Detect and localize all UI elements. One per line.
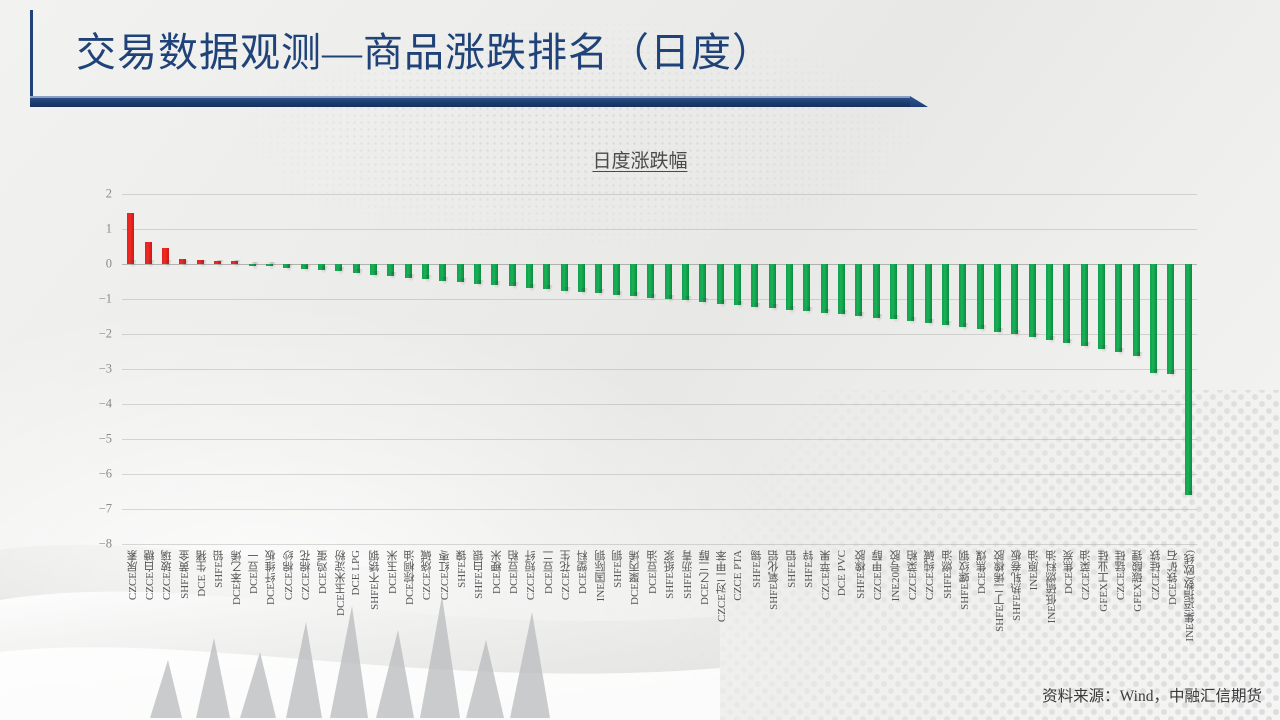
x-axis-tick-label: CZCE锰硅	[1113, 550, 1129, 600]
bar	[162, 248, 169, 264]
bar	[647, 264, 654, 298]
title-left-accent-rule	[30, 10, 33, 106]
bar	[405, 264, 412, 278]
x-axis-tick-label: DCE PVC	[836, 550, 848, 596]
gridline-2	[122, 194, 1197, 195]
x-axis-tick-label: DCE玉米淀粉	[333, 550, 349, 616]
bar	[890, 264, 897, 319]
y-axis-tick-label: −7	[72, 502, 112, 517]
bar	[925, 264, 932, 323]
x-axis-tick-label: SHFE白银	[471, 550, 487, 599]
bar	[509, 264, 516, 286]
x-axis-tick-label: SHFE不锈钢	[367, 550, 383, 610]
page-title: 交易数据观测—商品涨跌排名（日度）	[76, 26, 773, 80]
x-axis-tick-label: DCE焦炭	[1061, 550, 1077, 594]
bar	[439, 264, 446, 281]
gridline--8	[122, 544, 1197, 545]
bar	[1081, 264, 1088, 346]
x-axis-tick-label: DCE豆一	[246, 550, 262, 594]
y-axis-tick-label: −5	[72, 432, 112, 447]
x-axis-tick-label: CZCE纯碱	[922, 550, 938, 600]
x-axis-tick-label: SHFE镍	[454, 550, 470, 588]
y-axis-tick-label: 0	[72, 257, 112, 272]
x-axis-tick-label: SHFE热轧卷板	[1009, 550, 1025, 621]
x-axis-tick-label: DCE豆粕	[506, 550, 522, 594]
x-axis-tick-label: SHFE沥青	[680, 550, 696, 599]
bar	[561, 264, 568, 291]
x-axis-tick-label: SHFE黄金	[177, 550, 193, 599]
bar	[266, 264, 273, 266]
x-axis-tick-label: CZCE棉花	[298, 550, 314, 600]
bar	[491, 264, 498, 285]
x-axis-tick-label: CZCE尿素	[125, 550, 141, 600]
bar	[630, 264, 637, 296]
x-axis-tick-label: CZCE PTA	[732, 550, 744, 601]
bar	[977, 264, 984, 329]
y-axis-tick-label: −4	[72, 397, 112, 412]
bar	[682, 264, 689, 300]
x-axis-tick-label: SHFE铅	[211, 550, 227, 588]
x-axis-tick-label: CZCE短纤	[523, 550, 539, 600]
bar	[1115, 264, 1122, 352]
x-axis-tick-label: DCE豆油	[645, 550, 661, 594]
title-underline-highlight	[30, 96, 910, 98]
source-note: 资料来源：Wind，中融汇信期货	[1042, 684, 1262, 706]
bar	[474, 264, 481, 284]
x-axis-tick-label: INE集运指数(欧线)	[1182, 550, 1198, 642]
x-axis-tick-label: DCE纤维板	[263, 550, 279, 605]
y-axis-tick-label: −3	[72, 362, 112, 377]
bar	[769, 264, 776, 308]
x-axis-tick-label: INE20号胶	[888, 550, 904, 601]
bar	[1150, 264, 1157, 373]
bar	[283, 264, 290, 268]
x-axis-tick-label: SHFE橡胶	[853, 550, 869, 599]
x-axis-tick-label: DCE焦煤	[974, 550, 990, 594]
gridline-1	[122, 229, 1197, 230]
bar	[838, 264, 845, 314]
x-axis-tick-label: CZCE对二甲苯	[714, 550, 730, 622]
x-axis-tick-label: GFEX工业硅	[1096, 550, 1112, 612]
x-axis-tick-label: SHFE燃油	[940, 550, 956, 599]
bar	[734, 264, 741, 305]
bar	[994, 264, 1001, 332]
y-axis-tick-label: −1	[72, 292, 112, 307]
bar	[699, 264, 706, 302]
chart-container: 日度涨跌幅 210−1−2−3−4−5−6−7−8 CZCE尿素CZCE白糖CZ…	[0, 120, 1280, 680]
bar	[1167, 264, 1174, 374]
gridline--7	[122, 509, 1197, 510]
y-axis-tick-label: 2	[72, 187, 112, 202]
chart-plot-area: 210−1−2−3−4−5−6−7−8	[122, 194, 1197, 544]
x-axis-tick-label: DCE聚丙烯	[627, 550, 643, 605]
x-axis-tick-label: DCE棕榈油	[402, 550, 418, 605]
bar	[1046, 264, 1053, 340]
gridline--6	[122, 474, 1197, 475]
x-axis-tick-label: SHFE螺纹钢	[957, 550, 973, 610]
bar	[214, 261, 221, 264]
x-axis-tick-label: DCE苯乙烯	[229, 550, 245, 605]
x-axis-tick-label: CZCE烧碱	[419, 550, 435, 600]
bar	[959, 264, 966, 327]
bar	[751, 264, 758, 307]
bar	[1185, 264, 1192, 495]
x-axis-tick-label: SHFE锌	[801, 550, 817, 588]
slide-root: 交易数据观测—商品涨跌排名（日度） 日度涨跌幅 210−1−2−3−4−5−6−…	[0, 0, 1280, 720]
bar	[855, 264, 862, 316]
x-axis-tick-label: CZCE苹果	[818, 550, 834, 600]
bar	[1029, 264, 1036, 337]
x-axis-tick-label: SHFE丁二烯橡胶	[992, 550, 1008, 632]
x-axis-tick-label: CZCE玻璃	[159, 550, 175, 600]
bar	[543, 264, 550, 289]
x-axis-tick-label: DCE玉米	[385, 550, 401, 594]
x-axis-tick-label: DCE 生猪	[194, 550, 210, 597]
x-axis-tick-label: INE低硫燃料油	[1044, 550, 1060, 623]
bar	[526, 264, 533, 288]
y-axis-tick-label: 1	[72, 222, 112, 237]
x-axis-tick-label: CZCE菜油	[1078, 550, 1094, 600]
bar	[301, 264, 308, 269]
chart-title: 日度涨跌幅	[0, 146, 1280, 173]
bar	[907, 264, 914, 321]
bar	[457, 264, 464, 282]
x-axis-tick-label: SHFE铝	[784, 550, 800, 588]
x-axis-tick-label: CZCE硅铁	[1148, 550, 1164, 600]
bar	[1133, 264, 1140, 356]
x-axis-tick-label: DCE铁矿石	[1165, 550, 1181, 605]
chart-x-axis-labels: CZCE尿素CZCE白糖CZCE玻璃SHFE黄金DCE 生猪SHFE铅DCE苯乙…	[122, 550, 1197, 700]
bar	[387, 264, 394, 276]
bar	[353, 264, 360, 273]
y-axis-tick-label: −2	[72, 327, 112, 342]
x-axis-tick-label: DCE鸡蛋	[315, 550, 331, 594]
x-axis-tick-label: CZCE棉纱	[281, 550, 297, 600]
x-axis-tick-label: INE国际铜	[593, 550, 609, 601]
bar	[335, 264, 342, 271]
x-axis-tick-label: CZCE红枣	[437, 550, 453, 600]
bar	[803, 264, 810, 311]
bar	[370, 264, 377, 275]
x-axis-tick-label: DCE塑料	[575, 550, 591, 594]
gridline--4	[122, 404, 1197, 405]
bar	[717, 264, 724, 304]
bar	[595, 264, 602, 293]
bar	[821, 264, 828, 313]
x-axis-tick-label: DCE LPG	[350, 550, 362, 596]
bar	[249, 264, 256, 266]
x-axis-tick-label: SHFE纸浆	[662, 550, 678, 599]
x-axis-tick-label: DCE粳米	[489, 550, 505, 594]
x-axis-tick-label: SHFE氧化铝	[766, 550, 782, 610]
slide-title-bar: 交易数据观测—商品涨跌排名（日度）	[0, 0, 1280, 112]
gridline--3	[122, 369, 1197, 370]
bar	[145, 242, 152, 264]
x-axis-tick-label: SHFE锡	[749, 550, 765, 588]
bar	[231, 261, 238, 264]
x-axis-tick-label: SHFE铜	[610, 550, 626, 588]
bar	[422, 264, 429, 279]
x-axis-tick-label: INE原油	[1026, 550, 1042, 590]
x-axis-tick-label: DCE豆二	[541, 550, 557, 594]
x-axis-tick-label: CZCE菜粕	[905, 550, 921, 600]
y-axis-tick-label: −6	[72, 467, 112, 482]
bar	[1098, 264, 1105, 349]
bar	[197, 260, 204, 264]
x-axis-tick-label: CZCE花生	[558, 550, 574, 600]
bar	[873, 264, 880, 318]
bar	[1063, 264, 1070, 343]
x-axis-tick-label: CZCE白糖	[142, 550, 158, 600]
bar	[179, 259, 186, 264]
x-axis-tick-label: CZCE甲醇	[870, 550, 886, 600]
bar	[1011, 264, 1018, 334]
bar	[786, 264, 793, 310]
y-axis-tick-label: −8	[72, 537, 112, 552]
gridline--5	[122, 439, 1197, 440]
bar	[127, 213, 134, 264]
bar	[942, 264, 949, 325]
bar	[318, 264, 325, 270]
bar	[665, 264, 672, 299]
bar	[578, 264, 585, 292]
bar	[613, 264, 620, 295]
x-axis-tick-label: GFEX碳酸锂	[1130, 550, 1146, 612]
x-axis-tick-label: DCE乙二醇	[697, 550, 713, 605]
